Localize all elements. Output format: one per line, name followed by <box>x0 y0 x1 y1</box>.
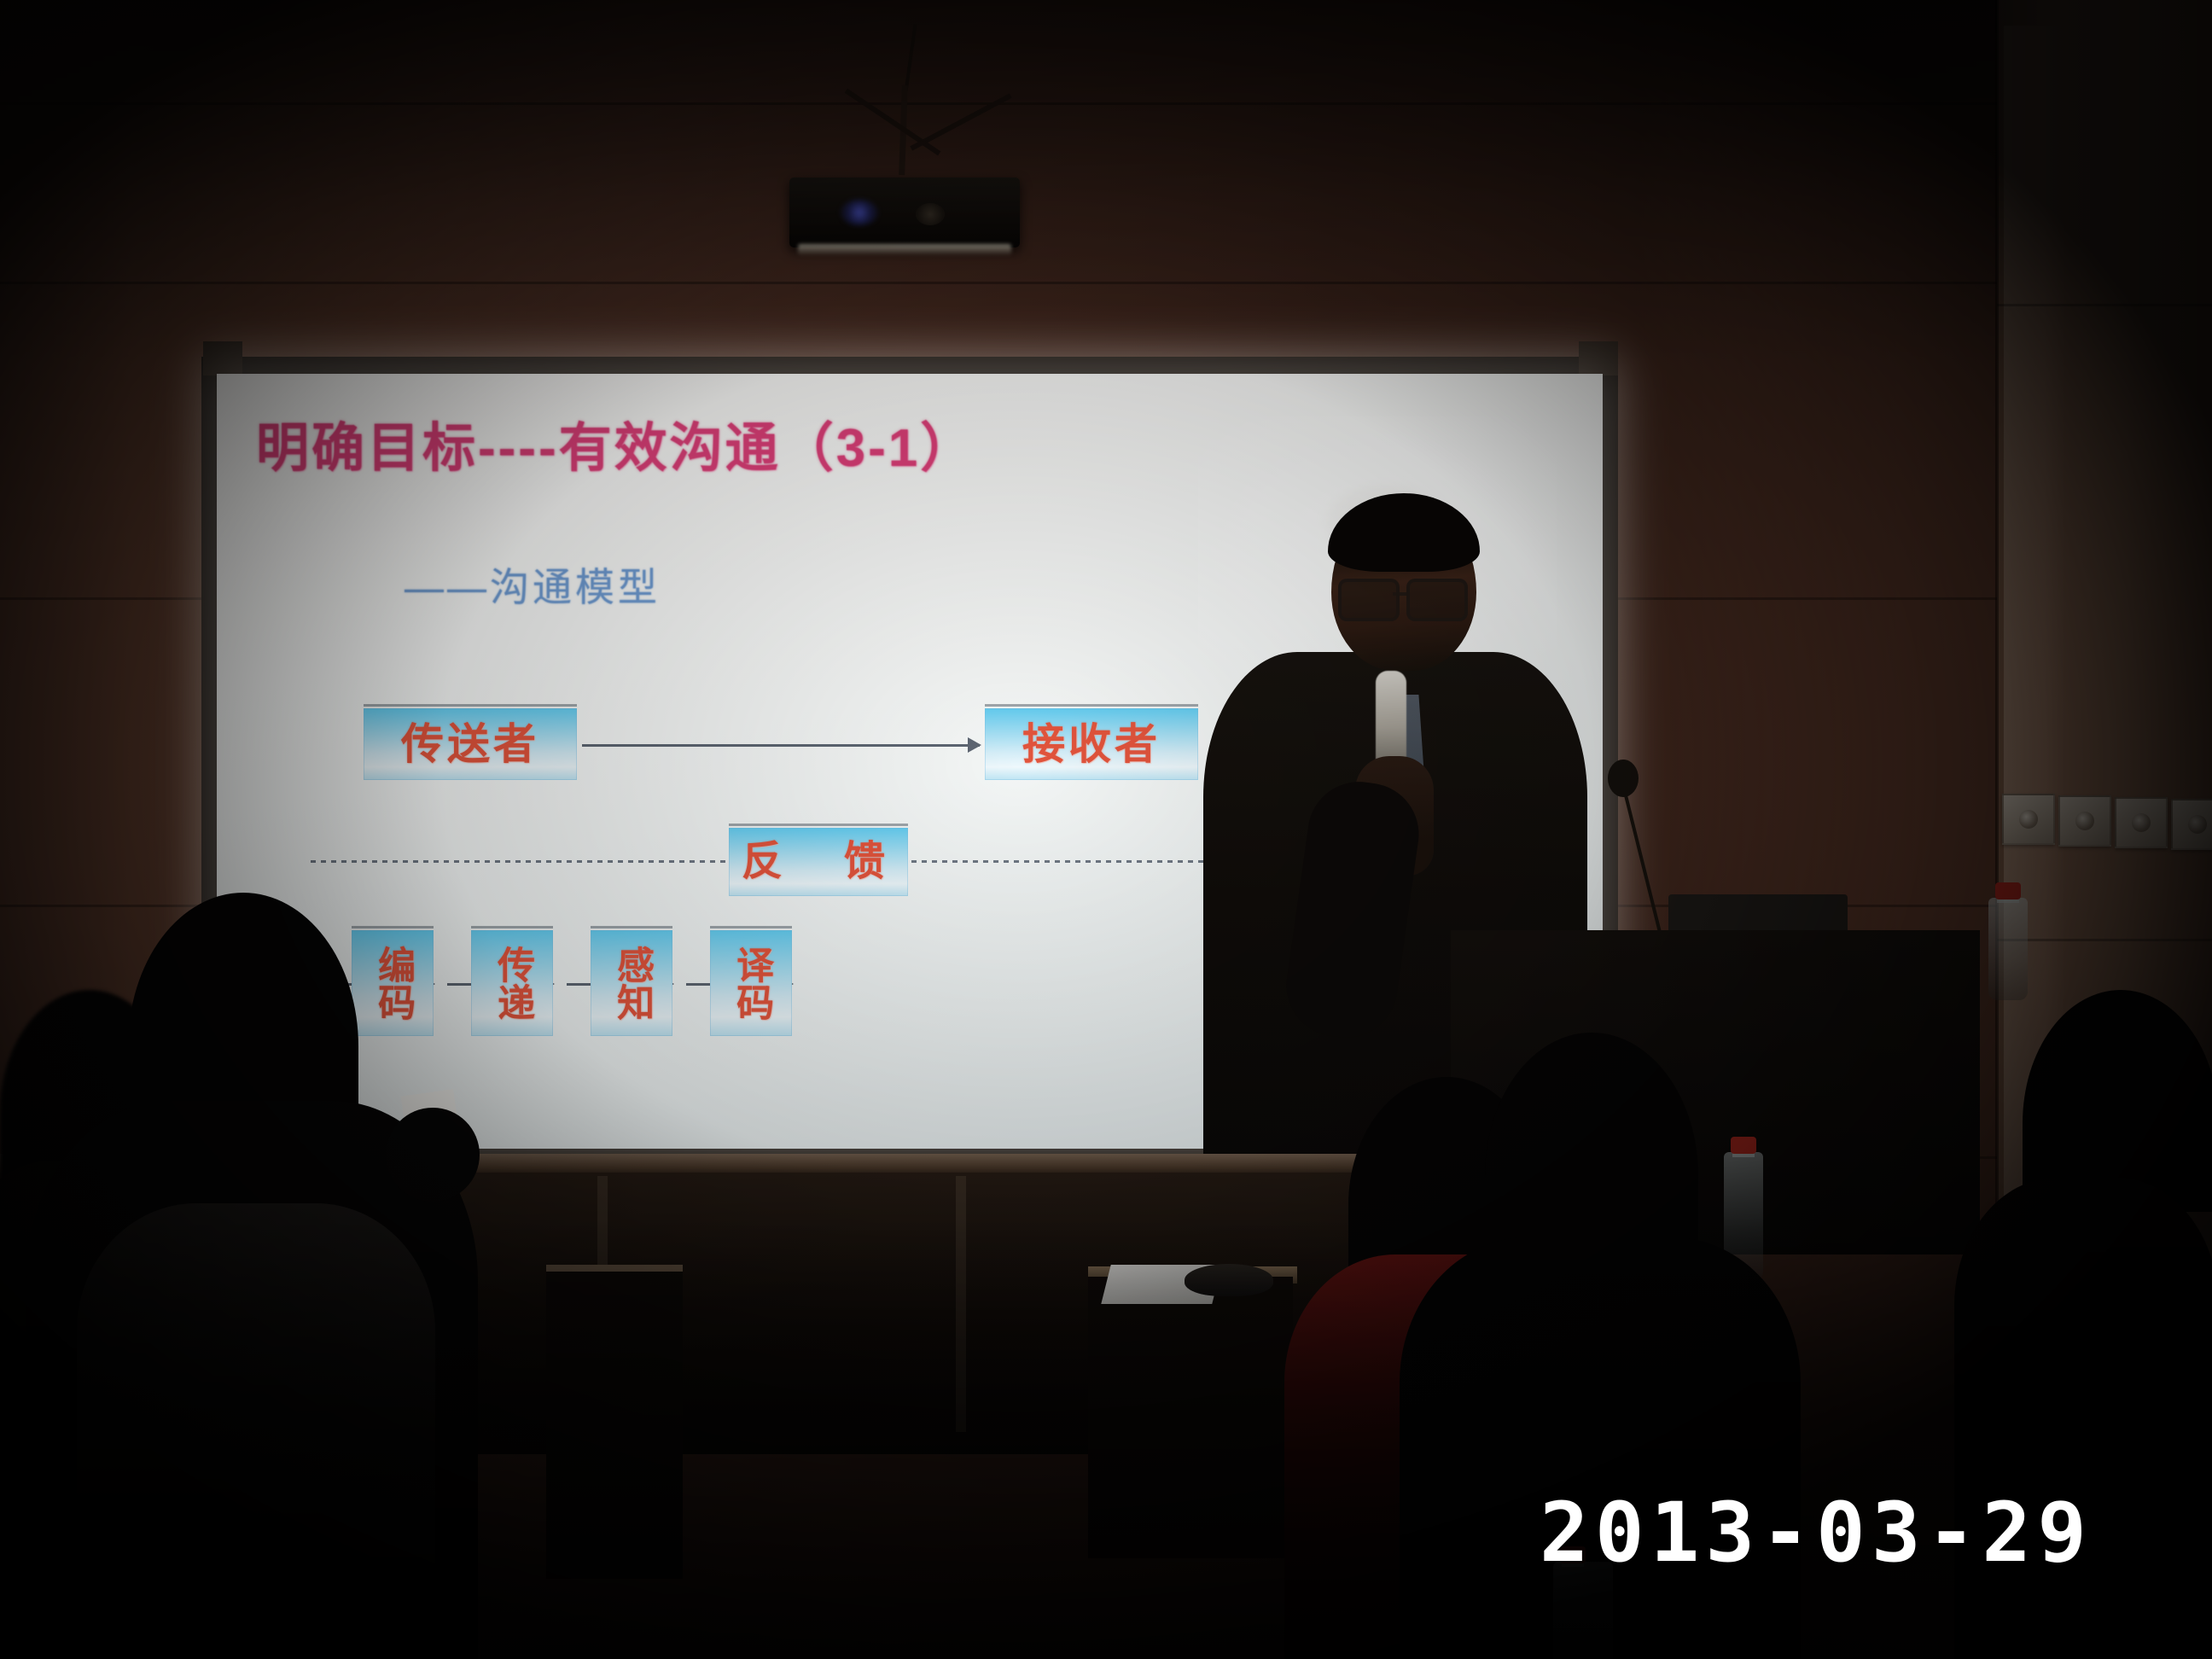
slide-title: 明确目标----有效沟通（3-1） <box>256 405 975 481</box>
projector-power-led-icon <box>841 200 878 225</box>
glasses-icon <box>1406 579 1468 621</box>
bottle-cap <box>1995 882 2021 899</box>
arrowhead-icon <box>968 737 981 753</box>
connector-sender-to-receiver <box>582 744 980 747</box>
box-top-rule <box>364 704 577 707</box>
front-desk-center <box>1088 1277 1293 1558</box>
box-top-rule <box>591 926 672 928</box>
diagram-chain-label-5: 译码 <box>731 946 771 1021</box>
pillar-seam <box>1997 304 2212 306</box>
connector-feedback-right <box>911 860 1219 863</box>
gooseneck-microphone-icon <box>1608 760 1639 797</box>
diagram-box-receiver: 接收者 <box>985 708 1198 780</box>
projector-lens-icon <box>916 203 945 225</box>
pillar-seam <box>1997 939 2212 941</box>
diagram-chain-box-5: 译码 <box>710 930 792 1036</box>
diagram-box-sender: 传送者 <box>364 708 577 780</box>
projector-underglow <box>798 244 1011 255</box>
connector-feedback-left <box>311 860 725 863</box>
diagram-chain-box-3: 传递 <box>471 930 553 1036</box>
wall-outlet[interactable] <box>2058 795 2111 847</box>
screen-bracket <box>203 341 242 375</box>
box-top-rule <box>985 704 1198 707</box>
slide-subtitle: ——沟通模型 <box>405 556 661 613</box>
box-top-rule <box>729 824 908 826</box>
diagram-box-sender-label: 传送者 <box>401 722 539 767</box>
audience-member-shirt <box>77 1203 435 1659</box>
front-desk-left <box>546 1272 683 1579</box>
water-bottle <box>1988 898 2028 1000</box>
diagram-chain-label-2: 编码 <box>373 946 412 1021</box>
diagram-chain-box-2: 编码 <box>352 930 434 1036</box>
bottle-cap <box>1731 1137 1756 1154</box>
screen-bracket <box>1579 341 1618 375</box>
audience-member-hand <box>386 1108 480 1202</box>
box-top-rule <box>471 926 553 928</box>
slide-subtitle-group: ——沟通模型 <box>405 556 661 613</box>
ceiling-projector <box>789 178 1020 247</box>
diagram-box-feedback: 反 馈 <box>729 828 908 896</box>
presenter-hair <box>1328 493 1480 572</box>
diagram-chain-box-4: 感知 <box>591 930 672 1036</box>
camera-datestamp: 2013-03-29 <box>1540 1485 2093 1580</box>
wall-outlet[interactable] <box>2115 797 2168 848</box>
audience-member-body <box>1954 1178 2212 1659</box>
diagram-chain-label-3: 传递 <box>492 946 532 1021</box>
diagram-chain-label-4: 感知 <box>612 946 651 1021</box>
box-top-rule <box>352 926 434 928</box>
photo-scene: 明确目标----有效沟通（3-1） ——沟通模型 传送者 接收者 反 馈 思考 <box>0 0 2212 1659</box>
box-top-rule <box>710 926 792 928</box>
glasses-bridge <box>1393 592 1408 596</box>
diagram-box-receiver-label: 接收者 <box>1022 722 1161 767</box>
stage-leg <box>956 1176 966 1432</box>
wall-outlet[interactable] <box>2002 794 2055 845</box>
ceiling-shadow <box>0 0 2212 367</box>
wall-outlet[interactable] <box>2171 799 2212 850</box>
computer-mouse-icon[interactable] <box>1185 1264 1273 1296</box>
diagram-box-feedback-label: 反 馈 <box>742 841 895 883</box>
glasses-icon <box>1338 579 1400 621</box>
